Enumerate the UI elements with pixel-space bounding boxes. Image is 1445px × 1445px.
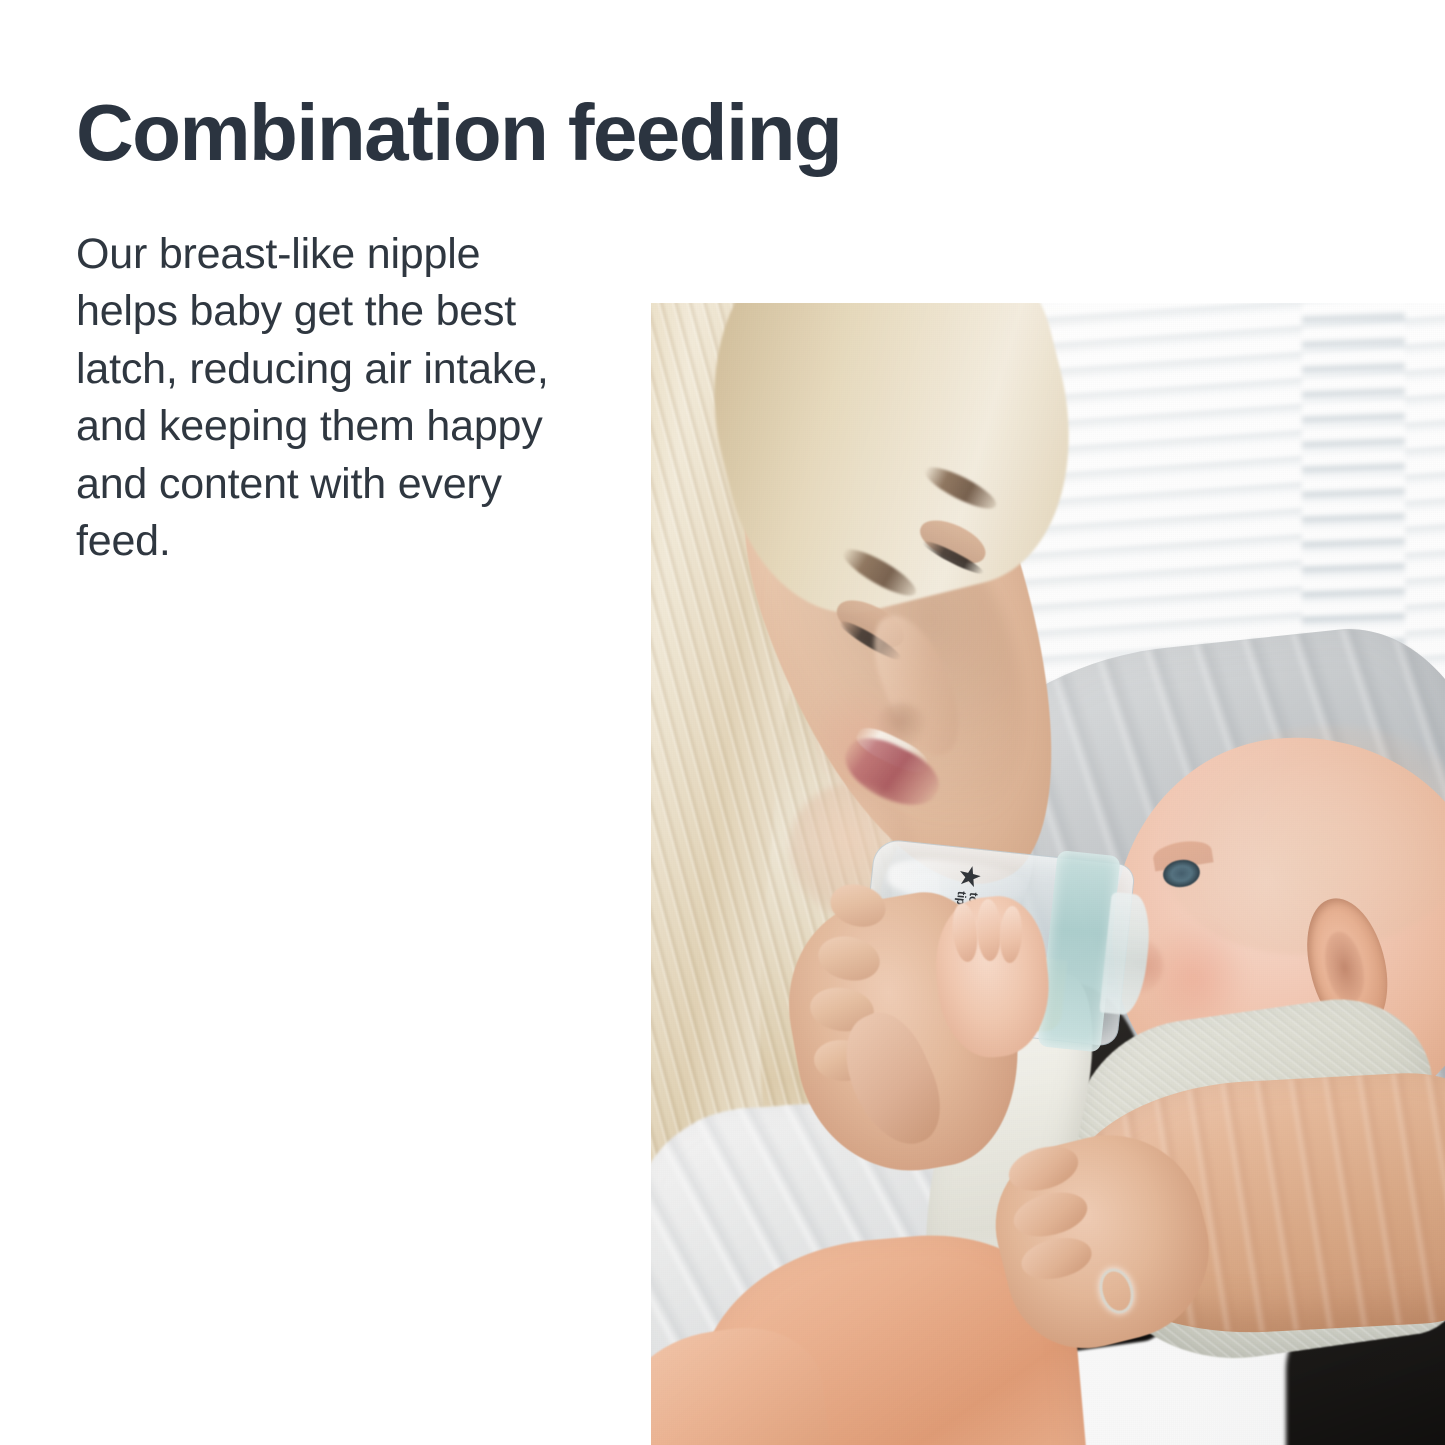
text-column: Combination feeding Our breast-like nipp… bbox=[76, 92, 596, 571]
star-icon bbox=[958, 866, 981, 889]
poster-canvas: Combination feeding Our breast-like nipp… bbox=[0, 0, 1445, 1445]
lifestyle-photo: tommee tippee bbox=[651, 303, 1445, 1445]
page-title: Combination feeding bbox=[76, 92, 596, 174]
photo-scene: tommee tippee bbox=[651, 303, 1445, 1445]
body-paragraph: Our breast-like nipple helps baby get th… bbox=[76, 226, 561, 571]
